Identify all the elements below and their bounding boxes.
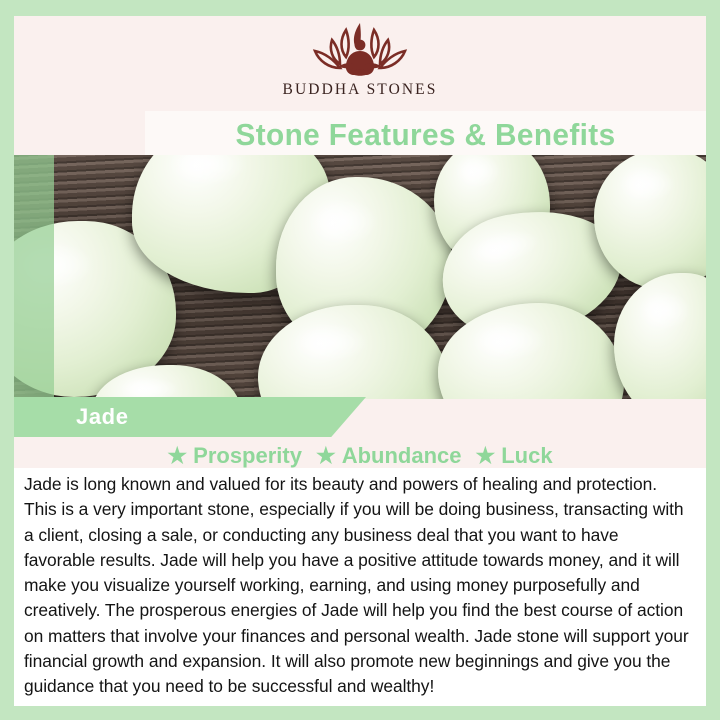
brand-header: BUDDHA STONES <box>14 16 706 106</box>
benefit-label: Prosperity <box>193 443 302 469</box>
star-icon: ★ <box>476 445 496 467</box>
description-panel: Jade is long known and valued for its be… <box>14 468 706 706</box>
benefit-item-prosperity: ★ Prosperity <box>167 443 302 469</box>
benefit-label: Luck <box>501 443 552 469</box>
green-overlay-strip <box>14 155 54 399</box>
star-icon: ★ <box>316 445 336 467</box>
card-inner: BUDDHA STONES Stone Features & Benefits … <box>14 16 706 706</box>
brand-name: BUDDHA STONES <box>283 81 438 99</box>
stone-info-card: BUDDHA STONES Stone Features & Benefits … <box>0 0 720 720</box>
lotus-meditation-icon <box>305 17 415 83</box>
benefit-label: Abundance <box>342 443 462 469</box>
benefit-item-abundance: ★ Abundance <box>316 443 462 469</box>
page-title: Stone Features & Benefits <box>156 111 695 159</box>
caption-accent-block <box>14 397 50 437</box>
star-icon: ★ <box>167 445 187 467</box>
benefit-item-luck: ★ Luck <box>476 443 553 469</box>
title-banner: Stone Features & Benefits <box>145 111 706 159</box>
stone-name-label: Jade <box>76 397 129 437</box>
description-text: Jade is long known and valued for its be… <box>24 472 694 700</box>
jade-tumbled-stones-photo <box>14 155 706 399</box>
